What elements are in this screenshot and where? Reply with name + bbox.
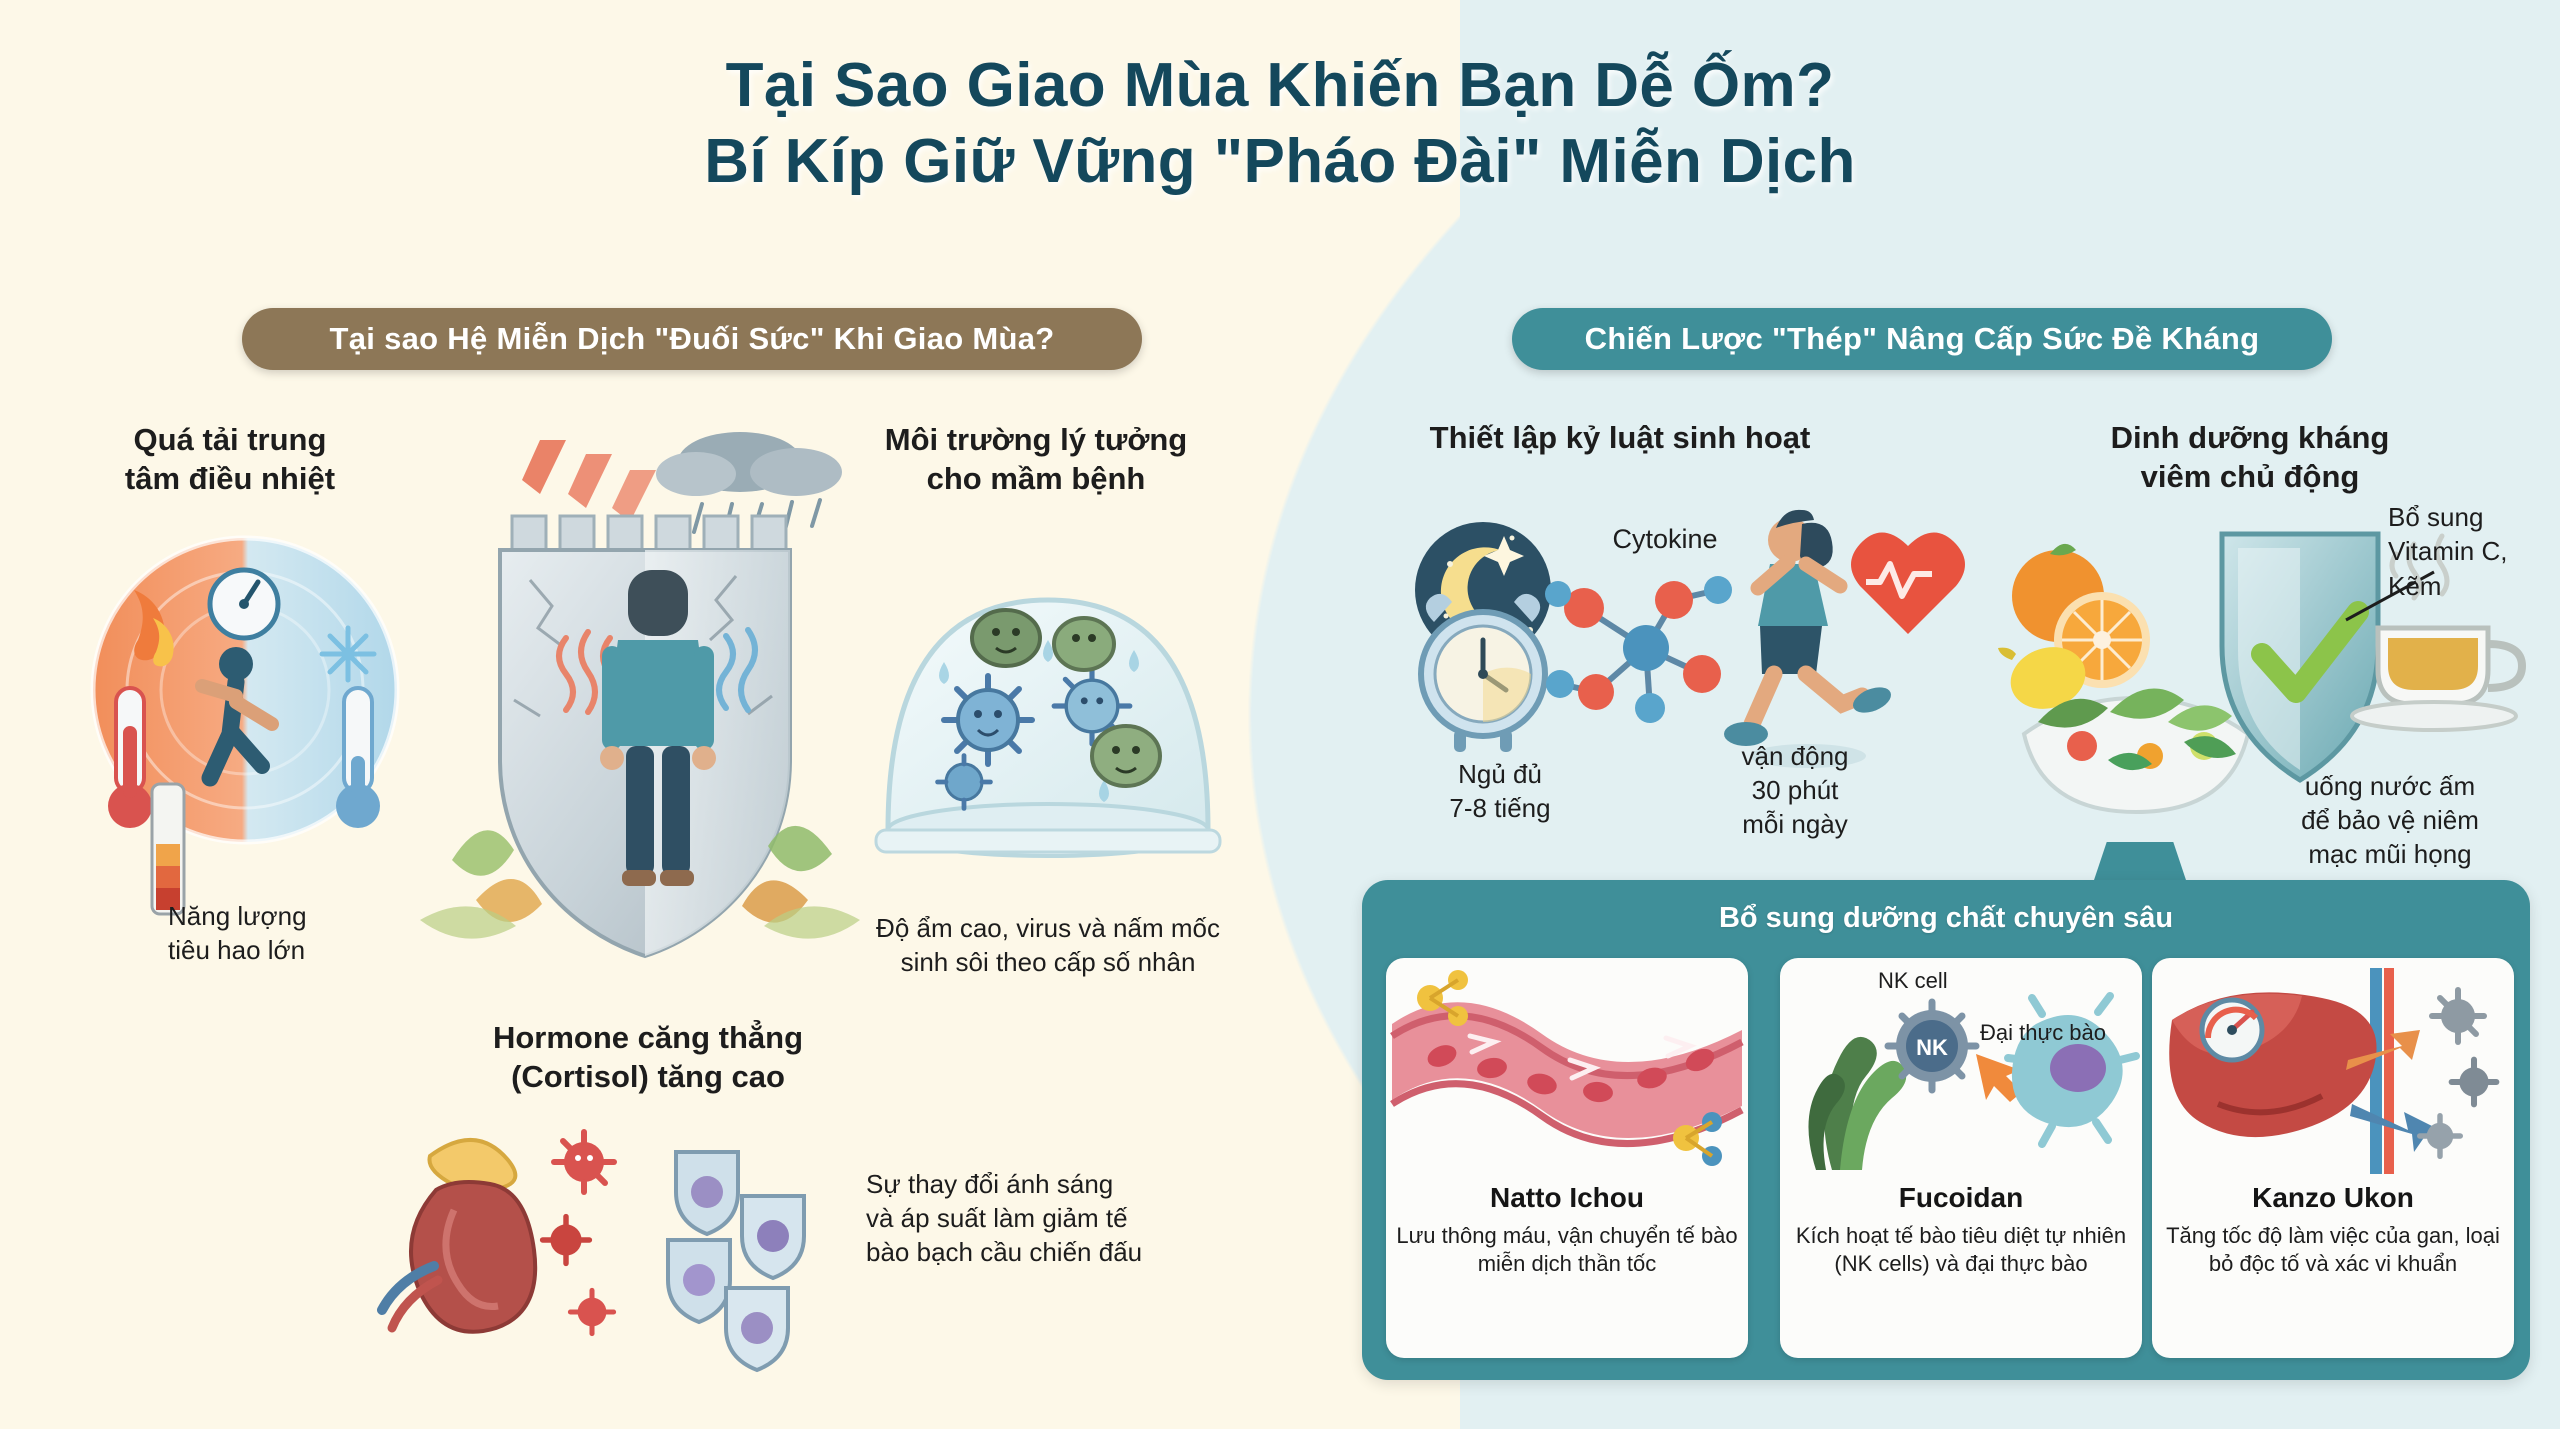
liver-detox-icon [2152, 964, 2514, 1178]
callout-vitamin-c: Bổ sung Vitamin C, Kẽm [2388, 500, 2560, 603]
cortisol-illustration [370, 1100, 830, 1390]
svg-text:NK: NK [1916, 1035, 1948, 1060]
fortress-shield-illustration [380, 400, 900, 1000]
seaweed-nk-cell-icon: NK [1780, 964, 2142, 1178]
caption-humidity: Độ ẩm cao, virus và nấm mốc sinh sôi the… [848, 912, 1248, 980]
card-description: Lưu thông máu, vận chuyển tế bào miễn dị… [1396, 1222, 1738, 1278]
section-header-right: Chiến Lược "Thép" Nâng Cấp Sức Đề Kháng [1512, 308, 2332, 370]
alarm-clock-moon-icon [1415, 522, 1551, 752]
glass-dome-icon [888, 600, 1208, 830]
molecule-icon [1545, 576, 1732, 723]
heading-lifestyle-discipline: Thiết lập kỷ luật sinh hoạt [1410, 418, 1830, 457]
blood-vessel-flow-icon [1386, 964, 1748, 1178]
card-kanzo-ukon[interactable]: Kanzo Ukon Tăng tốc độ làm việc của gan,… [2152, 958, 2514, 1358]
caption-exercise: vận động 30 phút mỗi ngày [1680, 740, 1910, 841]
card-title: Natto Ichou [1386, 1182, 1748, 1214]
thermometer-icon [336, 688, 380, 828]
down-arrow-icon [522, 440, 656, 522]
seaweed-icon [1808, 1037, 1906, 1170]
virus-icon [543, 1132, 614, 1334]
shield-cell-icon [668, 1152, 804, 1370]
caption-energy-loss: Năng lượng tiêu hao lớn [168, 900, 398, 968]
page-title: Tại Sao Giao Mùa Khiến Bạn Dễ Ốm? Bí Kíp… [0, 48, 2560, 199]
label-cytokine: Cytokine [1550, 522, 1780, 557]
infographic-canvas: Tại Sao Giao Mùa Khiến Bạn Dễ Ốm? Bí Kíp… [0, 0, 2560, 1429]
heading-cortisol: Hormone căng thẳng (Cortisol) tăng cao [458, 1018, 838, 1096]
title-line-1: Tại Sao Giao Mùa Khiến Bạn Dễ Ốm? [0, 48, 2560, 124]
caption-sleep: Ngủ đủ 7-8 tiếng [1390, 758, 1610, 826]
section-header-left: Tại sao Hệ Miễn Dịch "Đuối Sức" Khi Giao… [242, 308, 1142, 370]
card-description: Kích hoạt tế bào tiêu diệt tự nhiên (NK … [1790, 1222, 2132, 1278]
macrophage-icon [2008, 996, 2136, 1144]
card-description: Tăng tốc độ làm việc của gan, loại bỏ độ… [2162, 1222, 2504, 1278]
pathogen-dome-illustration [848, 530, 1248, 900]
title-line-2: Bí Kíp Giữ Vững "Pháo Đài" Miễn Dịch [0, 124, 2560, 200]
card-title: Fucoidan [1780, 1182, 2142, 1214]
card-natto-ichou[interactable]: Natto Ichou Lưu thông máu, vận chuyển tế… [1386, 958, 1748, 1358]
supplement-panel-title: Bổ sung dưỡng chất chuyên sâu [1362, 902, 2530, 935]
caption-white-blood-cells: Sự thay đổi ánh sáng và áp suất làm giảm… [866, 1168, 1266, 1269]
label-macrophage: Đại thực bào [1980, 1020, 2106, 1046]
virus-icon [944, 676, 1032, 764]
adrenal-gland-icon [382, 1140, 535, 1332]
gauge-icon [210, 570, 278, 638]
toxin-virus-icon [2420, 990, 2497, 1156]
thermometer-icon [108, 688, 152, 828]
card-fucoidan[interactable]: NK Fucoidan Kí [1780, 958, 2142, 1358]
label-nk-cell: NK cell [1878, 968, 1948, 994]
heading-nutrition: Dinh dưỡng kháng viêm chủ động [2070, 418, 2430, 496]
energy-meter-icon [152, 784, 184, 914]
callout-warm-water: uống nước ấm để bảo vệ niêm mạc mũi họng [2240, 770, 2540, 871]
heading-pathogen-environment: Môi trường lý tưởng cho mầm bệnh [866, 420, 1206, 498]
snowflake-icon [322, 628, 374, 680]
heading-thermoregulation: Quá tải trung tâm điều nhiệt [70, 420, 390, 498]
nk-cell-icon: NK [1888, 1002, 1976, 1090]
card-title: Kanzo Ukon [2152, 1182, 2514, 1214]
salad-bowl-icon [2024, 688, 2248, 812]
